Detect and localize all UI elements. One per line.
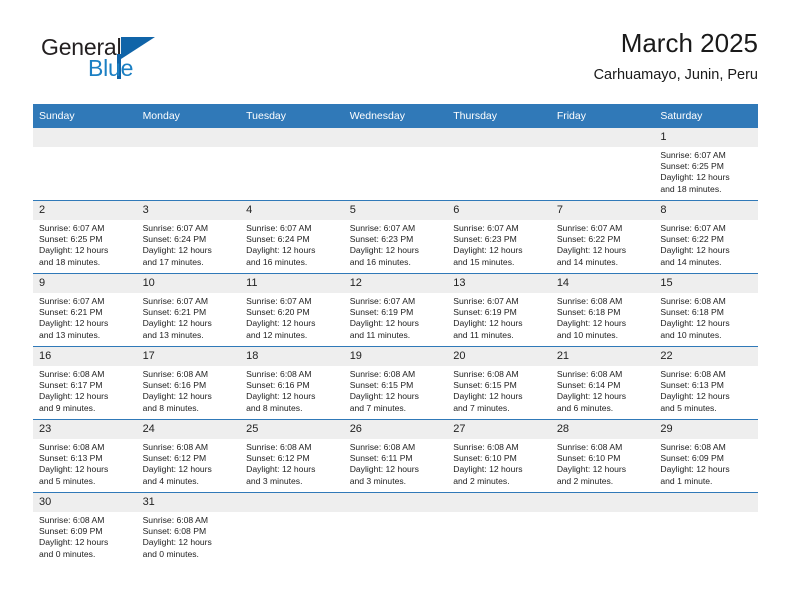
calendar-day-cell[interactable]: 18Sunrise: 6:08 AMSunset: 6:16 PMDayligh… bbox=[240, 347, 344, 420]
calendar-body: 1Sunrise: 6:07 AMSunset: 6:25 PMDaylight… bbox=[33, 128, 758, 565]
day-detail-line: Sunrise: 6:08 AM bbox=[143, 515, 237, 526]
day-detail-line: Sunrise: 6:08 AM bbox=[557, 442, 651, 453]
day-detail-line: and 18 minutes. bbox=[39, 257, 133, 268]
day-detail-line: Sunset: 6:23 PM bbox=[350, 234, 444, 245]
day-number: 3 bbox=[137, 201, 241, 220]
day-number: 4 bbox=[240, 201, 344, 220]
day-detail-line: and 7 minutes. bbox=[350, 403, 444, 414]
day-detail-line: and 15 minutes. bbox=[453, 257, 547, 268]
day-details: Sunrise: 6:08 AMSunset: 6:09 PMDaylight:… bbox=[654, 439, 758, 487]
day-detail-line: Daylight: 12 hours bbox=[557, 318, 651, 329]
day-detail-line: and 16 minutes. bbox=[350, 257, 444, 268]
calendar-day-cell[interactable]: 20Sunrise: 6:08 AMSunset: 6:15 PMDayligh… bbox=[447, 347, 551, 420]
day-detail-line: Sunrise: 6:07 AM bbox=[453, 223, 547, 234]
calendar-day-cell[interactable]: 2Sunrise: 6:07 AMSunset: 6:25 PMDaylight… bbox=[33, 201, 137, 274]
day-detail-line: Sunset: 6:12 PM bbox=[143, 453, 237, 464]
day-detail-line: and 11 minutes. bbox=[350, 330, 444, 341]
calendar-day-cell-empty bbox=[240, 128, 344, 201]
day-detail-line: Sunset: 6:21 PM bbox=[39, 307, 133, 318]
day-details bbox=[654, 512, 758, 515]
day-number: 11 bbox=[240, 274, 344, 293]
calendar-day-cell[interactable]: 22Sunrise: 6:08 AMSunset: 6:13 PMDayligh… bbox=[654, 347, 758, 420]
day-detail-line: Sunrise: 6:07 AM bbox=[39, 223, 133, 234]
day-detail-line: and 16 minutes. bbox=[246, 257, 340, 268]
day-details bbox=[447, 147, 551, 150]
calendar-week-row: 30Sunrise: 6:08 AMSunset: 6:09 PMDayligh… bbox=[33, 493, 758, 566]
day-number bbox=[240, 128, 344, 147]
day-details: Sunrise: 6:07 AMSunset: 6:25 PMDaylight:… bbox=[654, 147, 758, 195]
day-detail-line: and 2 minutes. bbox=[557, 476, 651, 487]
day-cell-inner bbox=[240, 493, 344, 565]
day-cell-inner: 8Sunrise: 6:07 AMSunset: 6:22 PMDaylight… bbox=[654, 201, 758, 273]
day-number: 23 bbox=[33, 420, 137, 439]
day-detail-line: Sunrise: 6:08 AM bbox=[246, 369, 340, 380]
day-detail-line: and 3 minutes. bbox=[350, 476, 444, 487]
day-detail-line: Sunset: 6:19 PM bbox=[350, 307, 444, 318]
day-details: Sunrise: 6:07 AMSunset: 6:21 PMDaylight:… bbox=[137, 293, 241, 341]
day-number: 12 bbox=[344, 274, 448, 293]
day-cell-inner bbox=[447, 493, 551, 565]
day-detail-line: Sunset: 6:20 PM bbox=[246, 307, 340, 318]
day-cell-inner: 11Sunrise: 6:07 AMSunset: 6:20 PMDayligh… bbox=[240, 274, 344, 346]
day-number: 13 bbox=[447, 274, 551, 293]
day-detail-line: Sunrise: 6:07 AM bbox=[39, 296, 133, 307]
day-cell-inner: 29Sunrise: 6:08 AMSunset: 6:09 PMDayligh… bbox=[654, 420, 758, 492]
day-details: Sunrise: 6:08 AMSunset: 6:15 PMDaylight:… bbox=[447, 366, 551, 414]
weekday-header-wednesday: Wednesday bbox=[344, 104, 448, 128]
day-detail-line: Sunrise: 6:07 AM bbox=[350, 223, 444, 234]
day-cell-inner bbox=[447, 128, 551, 200]
day-detail-line: Daylight: 12 hours bbox=[350, 245, 444, 256]
page-title: March 2025 bbox=[594, 28, 758, 58]
calendar-day-cell[interactable]: 11Sunrise: 6:07 AMSunset: 6:20 PMDayligh… bbox=[240, 274, 344, 347]
day-number bbox=[137, 128, 241, 147]
day-detail-line: and 3 minutes. bbox=[246, 476, 340, 487]
day-detail-line: Sunrise: 6:08 AM bbox=[557, 296, 651, 307]
day-number: 21 bbox=[551, 347, 655, 366]
calendar-day-cell-empty bbox=[447, 128, 551, 201]
calendar-day-cell[interactable]: 6Sunrise: 6:07 AMSunset: 6:23 PMDaylight… bbox=[447, 201, 551, 274]
day-detail-line: Sunrise: 6:08 AM bbox=[39, 515, 133, 526]
calendar-day-cell[interactable]: 26Sunrise: 6:08 AMSunset: 6:11 PMDayligh… bbox=[344, 420, 448, 493]
day-details: Sunrise: 6:07 AMSunset: 6:24 PMDaylight:… bbox=[240, 220, 344, 268]
day-cell-inner bbox=[551, 128, 655, 200]
day-detail-line: Sunset: 6:12 PM bbox=[246, 453, 340, 464]
calendar-day-cell[interactable]: 5Sunrise: 6:07 AMSunset: 6:23 PMDaylight… bbox=[344, 201, 448, 274]
day-detail-line: and 0 minutes. bbox=[39, 549, 133, 560]
day-detail-line: Sunrise: 6:08 AM bbox=[350, 442, 444, 453]
day-detail-line: Sunrise: 6:07 AM bbox=[143, 296, 237, 307]
day-cell-inner: 7Sunrise: 6:07 AMSunset: 6:22 PMDaylight… bbox=[551, 201, 655, 273]
day-cell-inner bbox=[344, 493, 448, 565]
day-cell-inner: 2Sunrise: 6:07 AMSunset: 6:25 PMDaylight… bbox=[33, 201, 137, 273]
day-detail-line: and 18 minutes. bbox=[660, 184, 754, 195]
day-cell-inner: 4Sunrise: 6:07 AMSunset: 6:24 PMDaylight… bbox=[240, 201, 344, 273]
day-detail-line: Daylight: 12 hours bbox=[660, 391, 754, 402]
day-details: Sunrise: 6:07 AMSunset: 6:19 PMDaylight:… bbox=[447, 293, 551, 341]
page-subtitle: Carhuamayo, Junin, Peru bbox=[594, 64, 758, 86]
day-detail-line: Daylight: 12 hours bbox=[39, 464, 133, 475]
day-detail-line: and 8 minutes. bbox=[143, 403, 237, 414]
day-detail-line: and 4 minutes. bbox=[143, 476, 237, 487]
day-detail-line: and 14 minutes. bbox=[557, 257, 651, 268]
calendar-day-cell[interactable]: 1Sunrise: 6:07 AMSunset: 6:25 PMDaylight… bbox=[654, 128, 758, 201]
day-detail-line: and 5 minutes. bbox=[39, 476, 133, 487]
calendar-week-row: 23Sunrise: 6:08 AMSunset: 6:13 PMDayligh… bbox=[33, 420, 758, 493]
day-detail-line: Sunset: 6:13 PM bbox=[660, 380, 754, 391]
day-detail-line: Daylight: 12 hours bbox=[39, 391, 133, 402]
calendar-day-cell-empty bbox=[33, 128, 137, 201]
day-detail-line: Sunset: 6:18 PM bbox=[557, 307, 651, 318]
day-details bbox=[447, 512, 551, 515]
day-cell-inner: 5Sunrise: 6:07 AMSunset: 6:23 PMDaylight… bbox=[344, 201, 448, 273]
calendar-day-cell[interactable]: 4Sunrise: 6:07 AMSunset: 6:24 PMDaylight… bbox=[240, 201, 344, 274]
day-number bbox=[33, 128, 137, 147]
day-detail-line: Sunrise: 6:08 AM bbox=[453, 369, 547, 380]
calendar-day-cell-empty bbox=[551, 128, 655, 201]
day-detail-line: Daylight: 12 hours bbox=[39, 318, 133, 329]
day-detail-line: and 11 minutes. bbox=[453, 330, 547, 341]
day-detail-line: Daylight: 12 hours bbox=[453, 464, 547, 475]
day-number: 16 bbox=[33, 347, 137, 366]
day-cell-inner: 13Sunrise: 6:07 AMSunset: 6:19 PMDayligh… bbox=[447, 274, 551, 346]
day-details: Sunrise: 6:08 AMSunset: 6:09 PMDaylight:… bbox=[33, 512, 137, 560]
calendar-day-cell[interactable]: 25Sunrise: 6:08 AMSunset: 6:12 PMDayligh… bbox=[240, 420, 344, 493]
day-details: Sunrise: 6:08 AMSunset: 6:16 PMDaylight:… bbox=[240, 366, 344, 414]
day-details: Sunrise: 6:07 AMSunset: 6:23 PMDaylight:… bbox=[447, 220, 551, 268]
day-detail-line: Sunrise: 6:07 AM bbox=[453, 296, 547, 307]
day-detail-line: Daylight: 12 hours bbox=[660, 318, 754, 329]
day-details: Sunrise: 6:08 AMSunset: 6:18 PMDaylight:… bbox=[551, 293, 655, 341]
day-detail-line: Sunset: 6:15 PM bbox=[350, 380, 444, 391]
calendar-day-cell[interactable]: 8Sunrise: 6:07 AMSunset: 6:22 PMDaylight… bbox=[654, 201, 758, 274]
day-detail-line: and 14 minutes. bbox=[660, 257, 754, 268]
day-cell-inner: 23Sunrise: 6:08 AMSunset: 6:13 PMDayligh… bbox=[33, 420, 137, 492]
day-cell-inner bbox=[240, 128, 344, 200]
day-detail-line: Sunrise: 6:08 AM bbox=[350, 369, 444, 380]
calendar-day-cell[interactable]: 19Sunrise: 6:08 AMSunset: 6:15 PMDayligh… bbox=[344, 347, 448, 420]
day-detail-line: Daylight: 12 hours bbox=[143, 391, 237, 402]
calendar-day-cell[interactable]: 21Sunrise: 6:08 AMSunset: 6:14 PMDayligh… bbox=[551, 347, 655, 420]
day-detail-line: and 10 minutes. bbox=[660, 330, 754, 341]
day-detail-line: and 13 minutes. bbox=[143, 330, 237, 341]
logo-secondary-text: Blue bbox=[88, 55, 133, 82]
day-number: 7 bbox=[551, 201, 655, 220]
day-number bbox=[551, 128, 655, 147]
day-detail-line: Sunset: 6:16 PM bbox=[246, 380, 340, 391]
day-detail-line: Sunset: 6:08 PM bbox=[143, 526, 237, 537]
calendar-day-cell[interactable]: 7Sunrise: 6:07 AMSunset: 6:22 PMDaylight… bbox=[551, 201, 655, 274]
day-number: 1 bbox=[654, 128, 758, 147]
day-cell-inner: 24Sunrise: 6:08 AMSunset: 6:12 PMDayligh… bbox=[137, 420, 241, 492]
day-detail-line: Daylight: 12 hours bbox=[350, 318, 444, 329]
day-detail-line: Sunset: 6:09 PM bbox=[39, 526, 133, 537]
day-details: Sunrise: 6:07 AMSunset: 6:20 PMDaylight:… bbox=[240, 293, 344, 341]
day-cell-inner: 18Sunrise: 6:08 AMSunset: 6:16 PMDayligh… bbox=[240, 347, 344, 419]
day-cell-inner: 1Sunrise: 6:07 AMSunset: 6:25 PMDaylight… bbox=[654, 128, 758, 200]
day-cell-inner: 31Sunrise: 6:08 AMSunset: 6:08 PMDayligh… bbox=[137, 493, 241, 565]
calendar-day-cell[interactable]: 12Sunrise: 6:07 AMSunset: 6:19 PMDayligh… bbox=[344, 274, 448, 347]
day-details bbox=[551, 512, 655, 515]
title-block: March 2025 Carhuamayo, Junin, Peru bbox=[594, 28, 758, 86]
day-detail-line: Daylight: 12 hours bbox=[350, 464, 444, 475]
day-number: 8 bbox=[654, 201, 758, 220]
day-cell-inner bbox=[654, 493, 758, 565]
day-detail-line: Sunset: 6:16 PM bbox=[143, 380, 237, 391]
day-detail-line: Sunset: 6:19 PM bbox=[453, 307, 547, 318]
weekday-header-sunday: Sunday bbox=[33, 104, 137, 128]
weekday-header-thursday: Thursday bbox=[447, 104, 551, 128]
day-detail-line: Daylight: 12 hours bbox=[246, 245, 340, 256]
general-blue-logo[interactable]: General Blue bbox=[33, 34, 233, 90]
calendar-header-row: SundayMondayTuesdayWednesdayThursdayFrid… bbox=[33, 104, 758, 128]
calendar-day-cell[interactable]: 27Sunrise: 6:08 AMSunset: 6:10 PMDayligh… bbox=[447, 420, 551, 493]
day-detail-line: and 13 minutes. bbox=[39, 330, 133, 341]
day-cell-inner: 21Sunrise: 6:08 AMSunset: 6:14 PMDayligh… bbox=[551, 347, 655, 419]
calendar-day-cell[interactable]: 30Sunrise: 6:08 AMSunset: 6:09 PMDayligh… bbox=[33, 493, 137, 566]
day-detail-line: and 9 minutes. bbox=[39, 403, 133, 414]
day-detail-line: Sunset: 6:11 PM bbox=[350, 453, 444, 464]
day-number: 29 bbox=[654, 420, 758, 439]
day-number bbox=[344, 493, 448, 512]
day-details: Sunrise: 6:07 AMSunset: 6:19 PMDaylight:… bbox=[344, 293, 448, 341]
day-detail-line: Sunrise: 6:07 AM bbox=[143, 223, 237, 234]
day-detail-line: Daylight: 12 hours bbox=[143, 464, 237, 475]
day-number bbox=[240, 493, 344, 512]
day-details: Sunrise: 6:08 AMSunset: 6:15 PMDaylight:… bbox=[344, 366, 448, 414]
day-detail-line: Daylight: 12 hours bbox=[39, 537, 133, 548]
day-detail-line: Daylight: 12 hours bbox=[39, 245, 133, 256]
day-cell-inner: 14Sunrise: 6:08 AMSunset: 6:18 PMDayligh… bbox=[551, 274, 655, 346]
day-cell-inner: 22Sunrise: 6:08 AMSunset: 6:13 PMDayligh… bbox=[654, 347, 758, 419]
day-cell-inner: 12Sunrise: 6:07 AMSunset: 6:19 PMDayligh… bbox=[344, 274, 448, 346]
day-detail-line: Sunrise: 6:07 AM bbox=[246, 223, 340, 234]
calendar-day-cell-empty bbox=[654, 493, 758, 566]
day-number bbox=[344, 128, 448, 147]
day-cell-inner: 16Sunrise: 6:08 AMSunset: 6:17 PMDayligh… bbox=[33, 347, 137, 419]
day-cell-inner bbox=[344, 128, 448, 200]
day-number bbox=[654, 493, 758, 512]
day-details bbox=[33, 147, 137, 150]
day-detail-line: Daylight: 12 hours bbox=[246, 464, 340, 475]
day-detail-line: Sunset: 6:23 PM bbox=[453, 234, 547, 245]
day-details: Sunrise: 6:07 AMSunset: 6:22 PMDaylight:… bbox=[654, 220, 758, 268]
day-detail-line: Sunset: 6:25 PM bbox=[39, 234, 133, 245]
day-cell-inner: 15Sunrise: 6:08 AMSunset: 6:18 PMDayligh… bbox=[654, 274, 758, 346]
day-detail-line: Sunrise: 6:08 AM bbox=[143, 369, 237, 380]
day-details: Sunrise: 6:08 AMSunset: 6:18 PMDaylight:… bbox=[654, 293, 758, 341]
day-details: Sunrise: 6:07 AMSunset: 6:23 PMDaylight:… bbox=[344, 220, 448, 268]
day-detail-line: Sunrise: 6:07 AM bbox=[660, 150, 754, 161]
weekday-header-row: SundayMondayTuesdayWednesdayThursdayFrid… bbox=[33, 104, 758, 128]
day-detail-line: Sunrise: 6:08 AM bbox=[143, 442, 237, 453]
day-cell-inner bbox=[33, 128, 137, 200]
day-cell-inner: 27Sunrise: 6:08 AMSunset: 6:10 PMDayligh… bbox=[447, 420, 551, 492]
day-number: 17 bbox=[137, 347, 241, 366]
day-number: 10 bbox=[137, 274, 241, 293]
day-number: 24 bbox=[137, 420, 241, 439]
day-detail-line: Daylight: 12 hours bbox=[660, 245, 754, 256]
day-detail-line: Sunset: 6:15 PM bbox=[453, 380, 547, 391]
day-number: 18 bbox=[240, 347, 344, 366]
day-detail-line: Sunrise: 6:08 AM bbox=[39, 369, 133, 380]
day-number: 9 bbox=[33, 274, 137, 293]
day-detail-line: and 17 minutes. bbox=[143, 257, 237, 268]
day-details: Sunrise: 6:08 AMSunset: 6:14 PMDaylight:… bbox=[551, 366, 655, 414]
day-detail-line: and 0 minutes. bbox=[143, 549, 237, 560]
day-details bbox=[240, 512, 344, 515]
calendar-day-cell[interactable]: 13Sunrise: 6:07 AMSunset: 6:19 PMDayligh… bbox=[447, 274, 551, 347]
calendar-week-row: 1Sunrise: 6:07 AMSunset: 6:25 PMDaylight… bbox=[33, 128, 758, 201]
day-detail-line: Daylight: 12 hours bbox=[453, 318, 547, 329]
day-detail-line: Sunrise: 6:07 AM bbox=[660, 223, 754, 234]
day-details: Sunrise: 6:07 AMSunset: 6:24 PMDaylight:… bbox=[137, 220, 241, 268]
day-detail-line: Sunset: 6:21 PM bbox=[143, 307, 237, 318]
day-detail-line: Daylight: 12 hours bbox=[246, 318, 340, 329]
calendar-day-cell[interactable]: 9Sunrise: 6:07 AMSunset: 6:21 PMDaylight… bbox=[33, 274, 137, 347]
calendar-day-cell[interactable]: 23Sunrise: 6:08 AMSunset: 6:13 PMDayligh… bbox=[33, 420, 137, 493]
day-cell-inner: 26Sunrise: 6:08 AMSunset: 6:11 PMDayligh… bbox=[344, 420, 448, 492]
day-details bbox=[240, 147, 344, 150]
calendar-week-row: 9Sunrise: 6:07 AMSunset: 6:21 PMDaylight… bbox=[33, 274, 758, 347]
day-cell-inner: 19Sunrise: 6:08 AMSunset: 6:15 PMDayligh… bbox=[344, 347, 448, 419]
day-detail-line: Daylight: 12 hours bbox=[143, 318, 237, 329]
day-detail-line: Sunrise: 6:08 AM bbox=[39, 442, 133, 453]
day-detail-line: Daylight: 12 hours bbox=[557, 391, 651, 402]
day-detail-line: and 2 minutes. bbox=[453, 476, 547, 487]
calendar-day-cell[interactable]: 29Sunrise: 6:08 AMSunset: 6:09 PMDayligh… bbox=[654, 420, 758, 493]
day-cell-inner: 3Sunrise: 6:07 AMSunset: 6:24 PMDaylight… bbox=[137, 201, 241, 273]
calendar-day-cell-empty bbox=[240, 493, 344, 566]
day-number bbox=[447, 128, 551, 147]
calendar-day-cell[interactable]: 31Sunrise: 6:08 AMSunset: 6:08 PMDayligh… bbox=[137, 493, 241, 566]
day-number: 15 bbox=[654, 274, 758, 293]
day-detail-line: Sunrise: 6:07 AM bbox=[557, 223, 651, 234]
day-cell-inner bbox=[551, 493, 655, 565]
day-details: Sunrise: 6:08 AMSunset: 6:10 PMDaylight:… bbox=[551, 439, 655, 487]
calendar-day-cell[interactable]: 15Sunrise: 6:08 AMSunset: 6:18 PMDayligh… bbox=[654, 274, 758, 347]
day-details: Sunrise: 6:08 AMSunset: 6:10 PMDaylight:… bbox=[447, 439, 551, 487]
day-detail-line: Sunrise: 6:07 AM bbox=[246, 296, 340, 307]
calendar-day-cell[interactable]: 10Sunrise: 6:07 AMSunset: 6:21 PMDayligh… bbox=[137, 274, 241, 347]
day-number: 2 bbox=[33, 201, 137, 220]
day-detail-line: Sunrise: 6:07 AM bbox=[350, 296, 444, 307]
day-detail-line: Sunset: 6:24 PM bbox=[143, 234, 237, 245]
day-number: 26 bbox=[344, 420, 448, 439]
day-number: 25 bbox=[240, 420, 344, 439]
day-detail-line: Daylight: 12 hours bbox=[660, 464, 754, 475]
day-detail-line: and 8 minutes. bbox=[246, 403, 340, 414]
day-cell-inner bbox=[137, 128, 241, 200]
day-details bbox=[344, 147, 448, 150]
calendar-day-cell-empty bbox=[344, 128, 448, 201]
calendar-day-cell[interactable]: 28Sunrise: 6:08 AMSunset: 6:10 PMDayligh… bbox=[551, 420, 655, 493]
day-details bbox=[551, 147, 655, 150]
day-details: Sunrise: 6:07 AMSunset: 6:22 PMDaylight:… bbox=[551, 220, 655, 268]
day-detail-line: Daylight: 12 hours bbox=[453, 391, 547, 402]
day-number: 20 bbox=[447, 347, 551, 366]
day-detail-line: Daylight: 12 hours bbox=[557, 464, 651, 475]
day-cell-inner: 30Sunrise: 6:08 AMSunset: 6:09 PMDayligh… bbox=[33, 493, 137, 565]
day-detail-line: and 12 minutes. bbox=[246, 330, 340, 341]
calendar-week-row: 16Sunrise: 6:08 AMSunset: 6:17 PMDayligh… bbox=[33, 347, 758, 420]
calendar-day-cell-empty bbox=[447, 493, 551, 566]
calendar-day-cell[interactable]: 17Sunrise: 6:08 AMSunset: 6:16 PMDayligh… bbox=[137, 347, 241, 420]
day-detail-line: Sunrise: 6:08 AM bbox=[660, 442, 754, 453]
day-number: 14 bbox=[551, 274, 655, 293]
day-details: Sunrise: 6:08 AMSunset: 6:12 PMDaylight:… bbox=[240, 439, 344, 487]
day-number: 5 bbox=[344, 201, 448, 220]
day-cell-inner: 10Sunrise: 6:07 AMSunset: 6:21 PMDayligh… bbox=[137, 274, 241, 346]
day-details bbox=[344, 512, 448, 515]
day-detail-line: Daylight: 12 hours bbox=[660, 172, 754, 183]
day-details: Sunrise: 6:07 AMSunset: 6:21 PMDaylight:… bbox=[33, 293, 137, 341]
calendar-day-cell[interactable]: 3Sunrise: 6:07 AMSunset: 6:24 PMDaylight… bbox=[137, 201, 241, 274]
day-detail-line: and 10 minutes. bbox=[557, 330, 651, 341]
day-detail-line: Sunset: 6:17 PM bbox=[39, 380, 133, 391]
day-details: Sunrise: 6:08 AMSunset: 6:12 PMDaylight:… bbox=[137, 439, 241, 487]
day-number: 27 bbox=[447, 420, 551, 439]
day-detail-line: Sunrise: 6:08 AM bbox=[557, 369, 651, 380]
day-detail-line: Sunset: 6:13 PM bbox=[39, 453, 133, 464]
page-header: General Blue March 2025 Carhuamayo, Juni… bbox=[33, 28, 758, 92]
calendar-day-cell-empty bbox=[344, 493, 448, 566]
day-details: Sunrise: 6:08 AMSunset: 6:16 PMDaylight:… bbox=[137, 366, 241, 414]
day-detail-line: and 5 minutes. bbox=[660, 403, 754, 414]
day-detail-line: Daylight: 12 hours bbox=[350, 391, 444, 402]
day-number: 6 bbox=[447, 201, 551, 220]
day-cell-inner: 17Sunrise: 6:08 AMSunset: 6:16 PMDayligh… bbox=[137, 347, 241, 419]
day-detail-line: Sunrise: 6:08 AM bbox=[453, 442, 547, 453]
day-cell-inner: 25Sunrise: 6:08 AMSunset: 6:12 PMDayligh… bbox=[240, 420, 344, 492]
day-details: Sunrise: 6:08 AMSunset: 6:13 PMDaylight:… bbox=[654, 366, 758, 414]
calendar-day-cell[interactable]: 24Sunrise: 6:08 AMSunset: 6:12 PMDayligh… bbox=[137, 420, 241, 493]
calendar-day-cell-empty bbox=[551, 493, 655, 566]
day-number: 31 bbox=[137, 493, 241, 512]
calendar-day-cell[interactable]: 14Sunrise: 6:08 AMSunset: 6:18 PMDayligh… bbox=[551, 274, 655, 347]
day-detail-line: Daylight: 12 hours bbox=[143, 245, 237, 256]
day-detail-line: Sunset: 6:22 PM bbox=[660, 234, 754, 245]
day-number bbox=[551, 493, 655, 512]
day-detail-line: Daylight: 12 hours bbox=[557, 245, 651, 256]
day-cell-inner: 28Sunrise: 6:08 AMSunset: 6:10 PMDayligh… bbox=[551, 420, 655, 492]
day-detail-line: and 7 minutes. bbox=[453, 403, 547, 414]
day-detail-line: Sunrise: 6:08 AM bbox=[246, 442, 340, 453]
weekday-header-monday: Monday bbox=[137, 104, 241, 128]
day-details bbox=[137, 147, 241, 150]
weekday-header-friday: Friday bbox=[551, 104, 655, 128]
day-cell-inner: 20Sunrise: 6:08 AMSunset: 6:15 PMDayligh… bbox=[447, 347, 551, 419]
day-details: Sunrise: 6:08 AMSunset: 6:08 PMDaylight:… bbox=[137, 512, 241, 560]
day-number bbox=[447, 493, 551, 512]
day-details: Sunrise: 6:08 AMSunset: 6:13 PMDaylight:… bbox=[33, 439, 137, 487]
day-detail-line: Daylight: 12 hours bbox=[453, 245, 547, 256]
day-detail-line: Daylight: 12 hours bbox=[143, 537, 237, 548]
calendar-week-row: 2Sunrise: 6:07 AMSunset: 6:25 PMDaylight… bbox=[33, 201, 758, 274]
day-detail-line: and 6 minutes. bbox=[557, 403, 651, 414]
calendar-day-cell[interactable]: 16Sunrise: 6:08 AMSunset: 6:17 PMDayligh… bbox=[33, 347, 137, 420]
day-detail-line: Sunset: 6:10 PM bbox=[453, 453, 547, 464]
weekday-header-saturday: Saturday bbox=[654, 104, 758, 128]
day-detail-line: Sunrise: 6:08 AM bbox=[660, 369, 754, 380]
day-number: 30 bbox=[33, 493, 137, 512]
day-detail-line: Sunset: 6:09 PM bbox=[660, 453, 754, 464]
day-detail-line: Daylight: 12 hours bbox=[246, 391, 340, 402]
calendar-day-cell-empty bbox=[137, 128, 241, 201]
day-details: Sunrise: 6:07 AMSunset: 6:25 PMDaylight:… bbox=[33, 220, 137, 268]
day-detail-line: and 1 minute. bbox=[660, 476, 754, 487]
weekday-header-tuesday: Tuesday bbox=[240, 104, 344, 128]
